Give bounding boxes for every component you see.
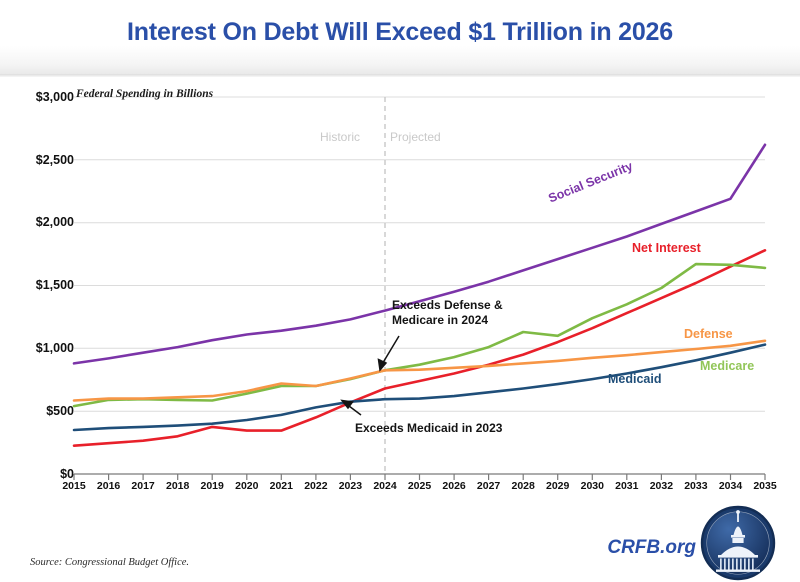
- y-tick-1000: $1,000: [12, 341, 74, 355]
- title-band: Interest On Debt Will Exceed $1 Trillion…: [0, 0, 800, 74]
- y-tick-2500: $2,500: [12, 153, 74, 167]
- y-axis-title: Federal Spending in Billions: [76, 88, 213, 100]
- series-label-medicaid: Medicaid: [608, 372, 662, 386]
- title-divider: [0, 74, 800, 77]
- series-label-net-interest: Net Interest: [632, 241, 701, 255]
- y-tick-3000: $3,000: [12, 90, 74, 104]
- y-tick-500: $500: [12, 404, 74, 418]
- era-label-projected: Projected: [390, 130, 441, 144]
- chart-footer: Source: Congressional Budget Office. CRF…: [0, 503, 800, 582]
- y-tick-1500: $1,500: [12, 278, 74, 292]
- series-line-medicaid: [74, 345, 765, 430]
- annotation-exceeds-medicaid: Exceeds Medicaid in 2023: [355, 421, 502, 436]
- chart-plot-area: Federal Spending in Billions $3,000 $2,5…: [0, 78, 800, 503]
- series-label-medicare: Medicare: [700, 359, 754, 373]
- series-line-defense: [74, 341, 765, 401]
- y-tick-2000: $2,000: [12, 215, 74, 229]
- annotation-line-1: Exceeds Defense &: [392, 298, 503, 313]
- page-title: Interest On Debt Will Exceed $1 Trillion…: [0, 18, 800, 47]
- crfb-brand-text: CRFB.org: [607, 537, 696, 559]
- chart-page: Interest On Debt Will Exceed $1 Trillion…: [0, 0, 800, 582]
- y-tick-0: $0: [12, 467, 74, 481]
- annotation-exceeds-defense-medicare: Exceeds Defense & Medicare in 2024: [392, 298, 503, 329]
- series-label-defense: Defense: [684, 327, 733, 341]
- source-note: Source: Congressional Budget Office.: [30, 557, 189, 568]
- x-tick-2035: 2035: [745, 480, 785, 492]
- era-label-historic: Historic: [320, 130, 360, 144]
- annotation-line-2: Medicare in 2024: [392, 313, 503, 328]
- capitol-dome-icon: [700, 505, 776, 581]
